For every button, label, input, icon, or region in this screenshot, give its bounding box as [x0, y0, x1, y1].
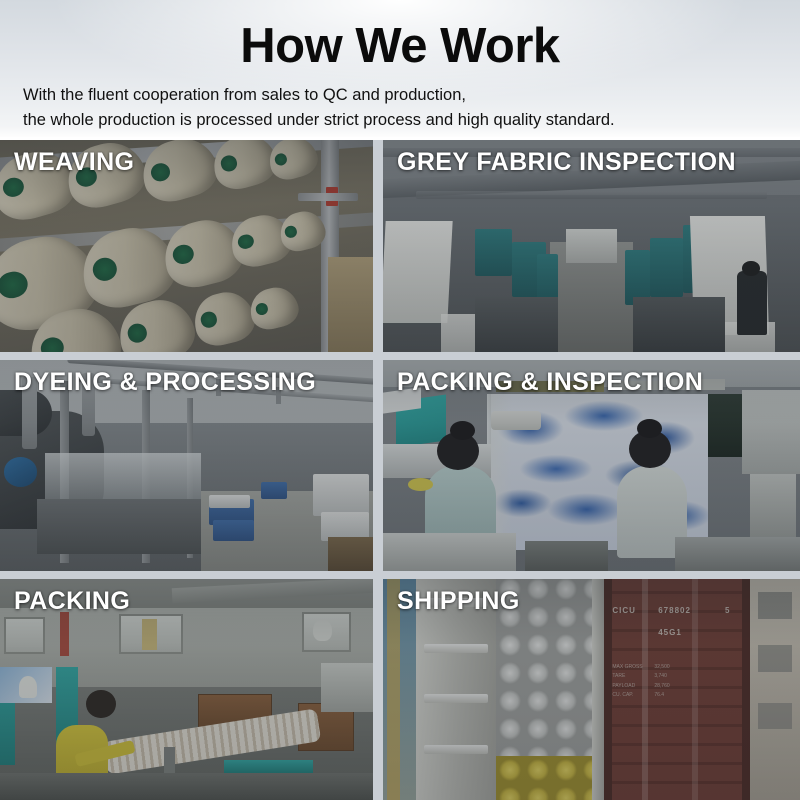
subtitle-line-2: the whole production is processed under … [23, 108, 800, 133]
process-tile-shipping[interactable]: CICU 678802 5 45G1 MAX GROSS32,500 TARE3… [383, 579, 800, 800]
tile-label-weaving: WEAVING [14, 148, 134, 177]
process-tile-packing-inspection[interactable]: PACKING & INSPECTION [383, 360, 800, 571]
page-title: How We Work [0, 0, 800, 71]
banner-header: How We Work With the fluent cooperation … [0, 0, 800, 137]
process-tile-grey-fabric-inspection[interactable]: GREY FABRIC INSPECTION [383, 140, 800, 352]
subtitle-line-1: With the fluent cooperation from sales t… [23, 83, 800, 108]
process-tile-packing[interactable]: PACKING [0, 579, 373, 800]
tile-label-shipping: SHIPPING [397, 587, 520, 616]
process-tile-dyeing-processing[interactable]: DYEING & PROCESSING [0, 360, 373, 571]
header-subtitle: With the fluent cooperation from sales t… [0, 83, 800, 133]
tile-label-packing-inspection: PACKING & INSPECTION [397, 368, 703, 397]
process-photo-grid: WEAVING [0, 140, 800, 800]
process-tile-weaving[interactable]: WEAVING [0, 140, 373, 352]
how-we-work-banner: How We Work With the fluent cooperation … [0, 0, 800, 800]
tile-label-grey-fabric-inspection: GREY FABRIC INSPECTION [397, 148, 736, 177]
tile-label-packing: PACKING [14, 587, 130, 616]
tile-label-dyeing-processing: DYEING & PROCESSING [14, 368, 316, 397]
